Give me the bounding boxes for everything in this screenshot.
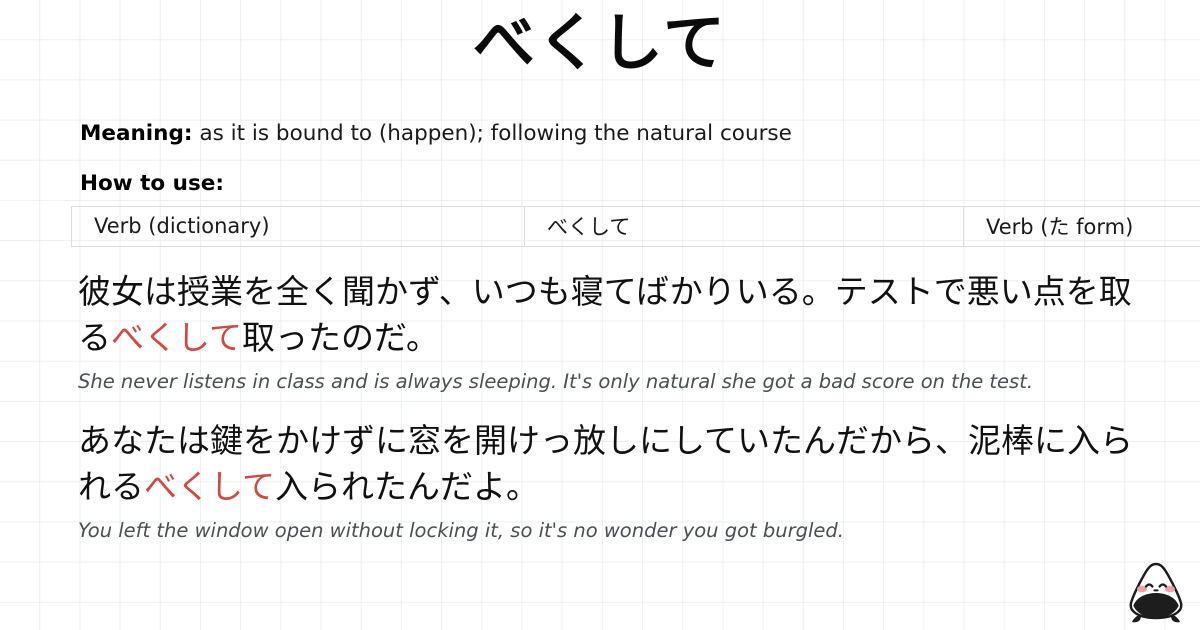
usage-cell-verb-dictionary: Verb (dictionary) [72,206,525,246]
example-translation-english-2: You left the window open without locking… [78,517,1118,545]
example-sentence-japanese-2: あなたは鍵をかけずに窓を開けっ放しにしていたんだから、泥棒に入られるべくして入ら… [78,418,1134,510]
example-translation-english-1: She never listens in class and is always… [78,368,1118,396]
onigiri-mascot-icon [1120,560,1192,626]
example-sentence-japanese-1: 彼女は授業を全く聞かず、いつも寝てばかりいる。テストで悪い点を取るべくして取った… [78,269,1134,361]
example-block-2: あなたは鍵をかけずに窓を開けっ放しにしていたんだから、泥棒に入られるべくして入ら… [78,418,1134,545]
usage-cell-grammar-point: べくして [525,206,964,246]
sentence-text-after-2: 入られたんだよ。 [275,467,539,506]
usage-cell-verb-ta-form: Verb (た form) [964,206,1200,246]
meaning-label: Meaning: [80,121,192,146]
sentence-text-after-1: 取ったのだ。 [242,318,439,357]
meaning-row: Meaning:as it is bound to (happen); foll… [80,120,1200,148]
how-to-use-label: How to use: [80,171,1200,196]
table-row: Verb (dictionary) べくして Verb (た form) [72,206,1200,246]
grammar-highlight-2: べくして [144,467,275,506]
usage-structure-table: Verb (dictionary) べくして Verb (た form) [71,206,1200,247]
grammar-card: べくして Meaning:as it is bound to (happen);… [0,0,1200,630]
grammar-highlight-1: べくして [111,318,242,357]
meaning-text: as it is bound to (happen); following th… [199,121,791,146]
page-title: べくして [0,0,1200,94]
example-block-1: 彼女は授業を全く聞かず、いつも寝てばかりいる。テストで悪い点を取るべくして取った… [78,269,1134,396]
